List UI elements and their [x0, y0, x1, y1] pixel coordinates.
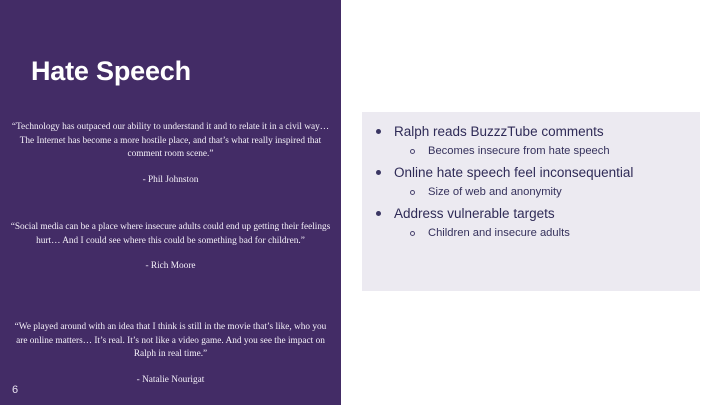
- quote-attribution: - Rich Moore: [0, 260, 341, 274]
- right-content-panel: Ralph reads BuzzzTube comments Becomes i…: [362, 112, 700, 291]
- list-item: Address vulnerable targets: [362, 204, 700, 223]
- page-title: Hate Speech: [31, 57, 191, 87]
- quote-attribution: - Phil Johnston: [0, 174, 341, 188]
- list-item: Children and insecure adults: [362, 225, 700, 242]
- quote-block-2: “Social media can be a place where insec…: [0, 221, 341, 274]
- left-purple-panel: Hate Speech “Technology has outpaced our…: [0, 0, 341, 405]
- quote-text: “Technology has outpaced our ability to …: [0, 121, 341, 162]
- presentation-slide: Hate Speech “Technology has outpaced our…: [0, 0, 720, 405]
- bullet-circle-icon: [410, 231, 415, 236]
- page-number: 6: [12, 384, 18, 396]
- bullet-circle-icon: [410, 149, 415, 154]
- quote-text: “Social media can be a place where insec…: [0, 221, 341, 248]
- quote-text: “We played around with an idea that I th…: [0, 321, 341, 362]
- list-item-label: Ralph reads BuzzzTube comments: [394, 122, 604, 141]
- list-item-label: Becomes insecure from hate speech: [428, 143, 610, 160]
- bullet-disc-icon: [376, 129, 381, 134]
- list-item-label: Children and insecure adults: [428, 225, 570, 242]
- bullet-disc-icon: [376, 211, 381, 216]
- quote-block-3: “We played around with an idea that I th…: [0, 321, 341, 387]
- list-item-label: Online hate speech feel inconsequential: [394, 163, 633, 182]
- list-item-label: Address vulnerable targets: [394, 204, 555, 223]
- list-item: Online hate speech feel inconsequential: [362, 163, 700, 182]
- list-item: Size of web and anonymity: [362, 184, 700, 201]
- quote-block-1: “Technology has outpaced our ability to …: [0, 121, 341, 187]
- list-item: Ralph reads BuzzzTube comments: [362, 122, 700, 141]
- list-item: Becomes insecure from hate speech: [362, 143, 700, 160]
- bullet-circle-icon: [410, 190, 415, 195]
- quote-attribution: - Natalie Nourigat: [0, 374, 341, 388]
- list-item-label: Size of web and anonymity: [428, 184, 562, 201]
- bullet-disc-icon: [376, 170, 381, 175]
- bullet-list: Ralph reads BuzzzTube comments Becomes i…: [362, 122, 700, 245]
